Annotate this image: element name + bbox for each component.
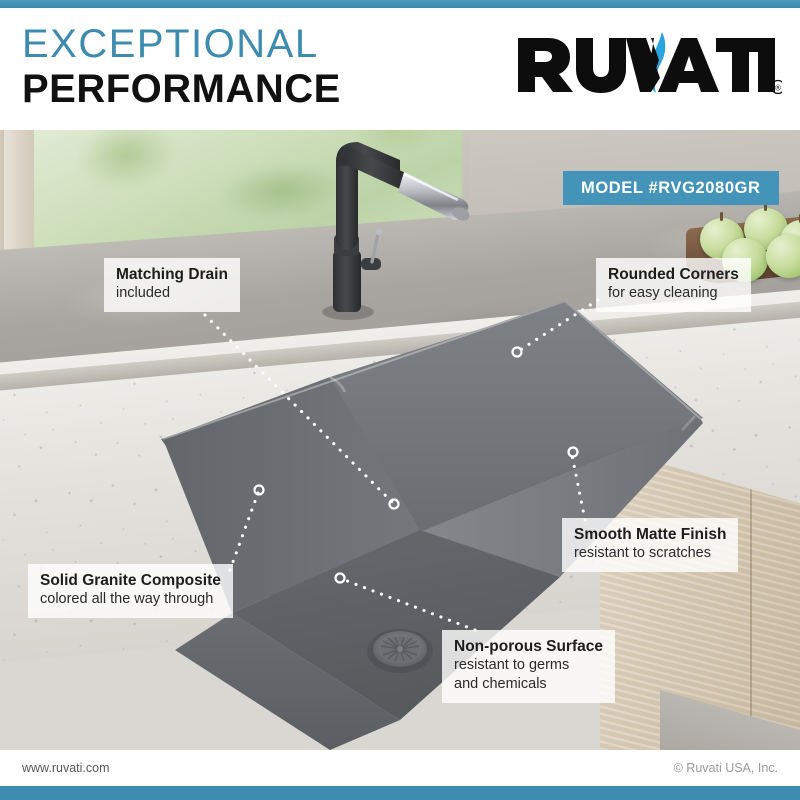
callout-title: Matching Drain	[116, 265, 228, 284]
faucet-base	[333, 250, 361, 312]
callout-subtitle: colored all the way through	[40, 590, 221, 609]
headline-block: EXCEPTIONAL PERFORMANCE	[22, 22, 341, 112]
registered-mark-letter: ®	[775, 84, 781, 93]
callout-title: Smooth Matte Finish	[574, 525, 726, 544]
callout-subtitle: resistant to scratches	[574, 544, 726, 563]
callout-rounded-corners: Rounded Corners for easy cleaning	[596, 258, 751, 312]
footer-copyright: © Ruvati USA, Inc.	[674, 761, 778, 775]
callout-matching-drain: Matching Drain included	[104, 258, 240, 312]
callout-non-porous-surface: Non-porous Surface resistant to germs an…	[442, 630, 615, 703]
ruvati-logo-svg: ®	[512, 30, 782, 100]
top-accent-bar	[0, 0, 800, 8]
callout-subtitle: resistant to germs	[454, 656, 603, 675]
callout-title: Solid Granite Composite	[40, 571, 221, 590]
callout-solid-granite-composite: Solid Granite Composite colored all the …	[28, 564, 233, 618]
footer: www.ruvati.com © Ruvati USA, Inc.	[0, 750, 800, 786]
kitchen-faucet	[0, 130, 800, 750]
headline-line-2: PERFORMANCE	[22, 66, 341, 112]
header: EXCEPTIONAL PERFORMANCE	[0, 8, 800, 130]
ruvati-logo: ®	[512, 30, 782, 100]
callout-subtitle: included	[116, 284, 228, 303]
marketing-infographic: EXCEPTIONAL PERFORMANCE	[0, 0, 800, 800]
faucet-handle-lever	[372, 234, 378, 262]
callout-subtitle: for easy cleaning	[608, 284, 739, 303]
product-photo	[0, 130, 800, 750]
footer-website[interactable]: www.ruvati.com	[22, 761, 110, 775]
model-badge: MODEL #RVG2080GR	[563, 171, 779, 205]
headline-line-1: EXCEPTIONAL	[22, 22, 341, 66]
callout-title: Non-porous Surface	[454, 637, 603, 656]
faucet-handle-tip	[376, 229, 382, 235]
callout-title: Rounded Corners	[608, 265, 739, 284]
bottom-accent-bar	[0, 786, 800, 800]
callout-subtitle-2: and chemicals	[454, 675, 603, 694]
callout-smooth-matte-finish: Smooth Matte Finish resistant to scratch…	[562, 518, 738, 572]
